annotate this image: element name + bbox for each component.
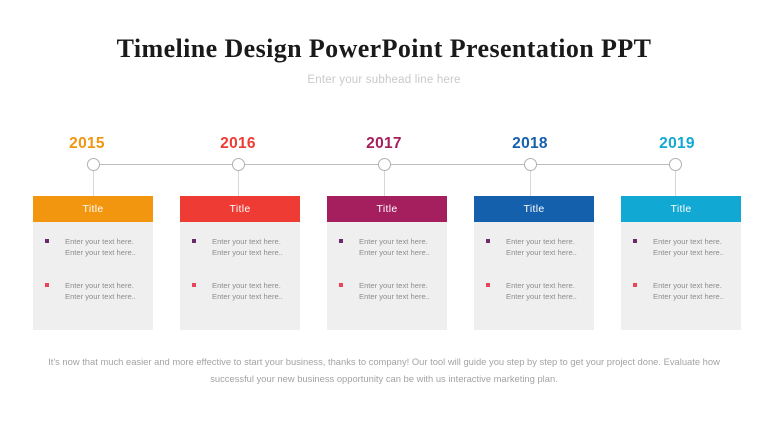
- bullet-square-icon: [633, 283, 637, 287]
- timeline-node-2019[interactable]: [669, 158, 682, 171]
- bullet-row: Enter your text here.Enter your text her…: [474, 236, 594, 258]
- slide-canvas: Timeline Design PowerPoint Presentation …: [0, 0, 768, 432]
- timeline-year-label-2015: 2015: [69, 135, 105, 153]
- timeline-node-2018[interactable]: [524, 158, 537, 171]
- bullet-square-icon: [192, 283, 196, 287]
- card-title-2016: Title: [180, 196, 300, 222]
- bullet-square-icon: [339, 283, 343, 287]
- bullet-text-line: Enter your text here.: [631, 280, 741, 291]
- timeline-node-2015[interactable]: [87, 158, 100, 171]
- bullet-square-icon: [339, 239, 343, 243]
- bullet-text-line: Enter your text here.: [43, 236, 153, 247]
- bullet-text-line: Enter your text here..: [190, 291, 300, 302]
- card-body-2018: Enter your text here.Enter your text her…: [474, 222, 594, 330]
- card-title-2019: Title: [621, 196, 741, 222]
- timeline-year-label-2019: 2019: [659, 135, 695, 153]
- bullet-row: Enter your text here.Enter your text her…: [621, 280, 741, 302]
- bullet-text-line: Enter your text here..: [484, 247, 594, 258]
- card-body-2015: Enter your text here.Enter your text her…: [33, 222, 153, 330]
- bullet-text-line: Enter your text here.: [631, 236, 741, 247]
- bullet-text-line: Enter your text here.: [337, 280, 447, 291]
- timeline-year-label-2016: 2016: [220, 135, 256, 153]
- bullet-text-line: Enter your text here.: [484, 236, 594, 247]
- card-title-2015: Title: [33, 196, 153, 222]
- card-title-2018: Title: [474, 196, 594, 222]
- bullet-text-line: Enter your text here..: [43, 247, 153, 258]
- timeline-stem-2016: [238, 171, 239, 196]
- bullet-square-icon: [486, 283, 490, 287]
- bullet-row: Enter your text here.Enter your text her…: [33, 280, 153, 302]
- bullet-square-icon: [192, 239, 196, 243]
- page-title: Timeline Design PowerPoint Presentation …: [0, 34, 768, 64]
- bullet-square-icon: [486, 239, 490, 243]
- card-body-2017: Enter your text here.Enter your text her…: [327, 222, 447, 330]
- timeline-year-label-2018: 2018: [512, 135, 548, 153]
- timeline-stem-2017: [384, 171, 385, 196]
- bullet-text-line: Enter your text here..: [631, 247, 741, 258]
- timeline-stem-2015: [93, 171, 94, 196]
- timeline-node-2017[interactable]: [378, 158, 391, 171]
- bullet-square-icon: [45, 239, 49, 243]
- bullet-row: Enter your text here.Enter your text her…: [621, 236, 741, 258]
- bullet-text-line: Enter your text here..: [337, 291, 447, 302]
- timeline-card-2019[interactable]: TitleEnter your text here.Enter your tex…: [621, 196, 741, 330]
- bullet-text-line: Enter your text here.: [43, 280, 153, 291]
- bullet-text-line: Enter your text here.: [190, 236, 300, 247]
- bullet-text-line: Enter your text here..: [337, 247, 447, 258]
- timeline-node-2016[interactable]: [232, 158, 245, 171]
- card-body-2016: Enter your text here.Enter your text her…: [180, 222, 300, 330]
- footer-paragraph: It's now that much easier and more effec…: [44, 353, 724, 387]
- timeline-stem-2019: [675, 171, 676, 196]
- timeline-card-2015[interactable]: TitleEnter your text here.Enter your tex…: [33, 196, 153, 330]
- bullet-text-line: Enter your text here.: [337, 236, 447, 247]
- bullet-row: Enter your text here.Enter your text her…: [180, 236, 300, 258]
- bullet-square-icon: [45, 283, 49, 287]
- bullet-row: Enter your text here.Enter your text her…: [327, 280, 447, 302]
- bullet-text-line: Enter your text here..: [190, 247, 300, 258]
- bullet-row: Enter your text here.Enter your text her…: [474, 280, 594, 302]
- bullet-text-line: Enter your text here.: [484, 280, 594, 291]
- page-subhead: Enter your subhead line here: [0, 74, 768, 86]
- bullet-row: Enter your text here.Enter your text her…: [327, 236, 447, 258]
- bullet-row: Enter your text here.Enter your text her…: [33, 236, 153, 258]
- timeline-year-label-2017: 2017: [366, 135, 402, 153]
- bullet-text-line: Enter your text here..: [43, 291, 153, 302]
- bullet-square-icon: [633, 239, 637, 243]
- timeline-card-2018[interactable]: TitleEnter your text here.Enter your tex…: [474, 196, 594, 330]
- card-body-2019: Enter your text here.Enter your text her…: [621, 222, 741, 330]
- bullet-row: Enter your text here.Enter your text her…: [180, 280, 300, 302]
- timeline-card-2017[interactable]: TitleEnter your text here.Enter your tex…: [327, 196, 447, 330]
- timeline-card-2016[interactable]: TitleEnter your text here.Enter your tex…: [180, 196, 300, 330]
- card-title-2017: Title: [327, 196, 447, 222]
- bullet-text-line: Enter your text here.: [190, 280, 300, 291]
- bullet-text-line: Enter your text here..: [484, 291, 594, 302]
- timeline-stem-2018: [530, 171, 531, 196]
- bullet-text-line: Enter your text here..: [631, 291, 741, 302]
